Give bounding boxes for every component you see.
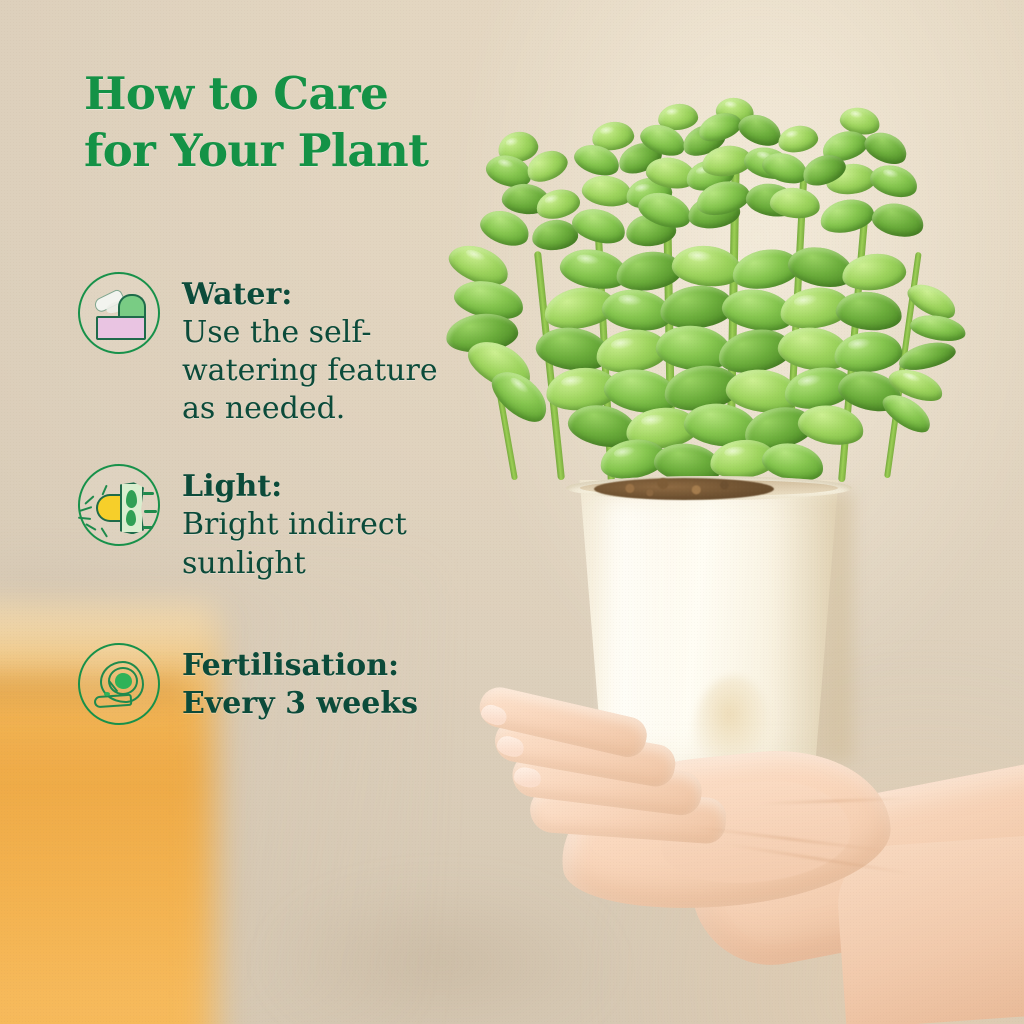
care-item-water: Water: Use the self-watering feature as …	[0, 272, 470, 428]
sun-ray	[78, 517, 91, 521]
sun-shape	[96, 494, 124, 522]
sun-leaf-icon	[78, 464, 160, 546]
leaf-shape	[126, 490, 137, 508]
care-item-fertilisation: Fertilisation: Every 3 weeks	[0, 643, 470, 725]
care-label-light: Light:	[182, 468, 470, 506]
care-label-fertilisation: Fertilisation:	[182, 647, 470, 685]
care-text-panel: How to Care for Your Plant Water: Use th…	[0, 0, 470, 1024]
care-text-water: Water: Use the self-watering feature as …	[182, 272, 470, 428]
trowel-scoop-shape	[94, 693, 133, 708]
care-instructions-graphic: How to Care for Your Plant Water: Use th…	[0, 0, 1024, 1024]
fertiliser-trowel-icon	[78, 643, 160, 725]
page-title-line-2: for Your Plant	[84, 124, 428, 177]
care-text-fertilisation: Fertilisation: Every 3 weeks	[182, 643, 470, 723]
care-instruction-list: Water: Use the self-watering feature as …	[0, 272, 470, 725]
care-item-light: Light: Bright indirect sunlight	[0, 464, 470, 582]
sun-ray	[85, 524, 97, 532]
care-value-light: Bright indirect sunlight	[182, 506, 470, 582]
watering-can-pot-icon	[78, 272, 160, 354]
care-value-water: Use the self-watering feature as needed.	[182, 314, 470, 428]
sun-ray	[79, 506, 92, 512]
fertiliser-granule	[104, 692, 110, 696]
sun-ray	[144, 510, 157, 512]
sun-ray	[100, 528, 108, 539]
sun-ray	[142, 492, 154, 494]
page-title-line-1: How to Care	[84, 67, 388, 120]
care-text-light: Light: Bright indirect sunlight	[182, 464, 470, 582]
pot-shape	[96, 316, 146, 340]
leaf-shape	[126, 510, 136, 526]
sprout-leaf-shape	[115, 673, 132, 689]
page-title: How to Care for Your Plant	[84, 66, 484, 179]
care-label-water: Water:	[182, 276, 470, 314]
sun-ray	[84, 496, 95, 506]
care-value-fertilisation: Every 3 weeks	[182, 685, 470, 723]
